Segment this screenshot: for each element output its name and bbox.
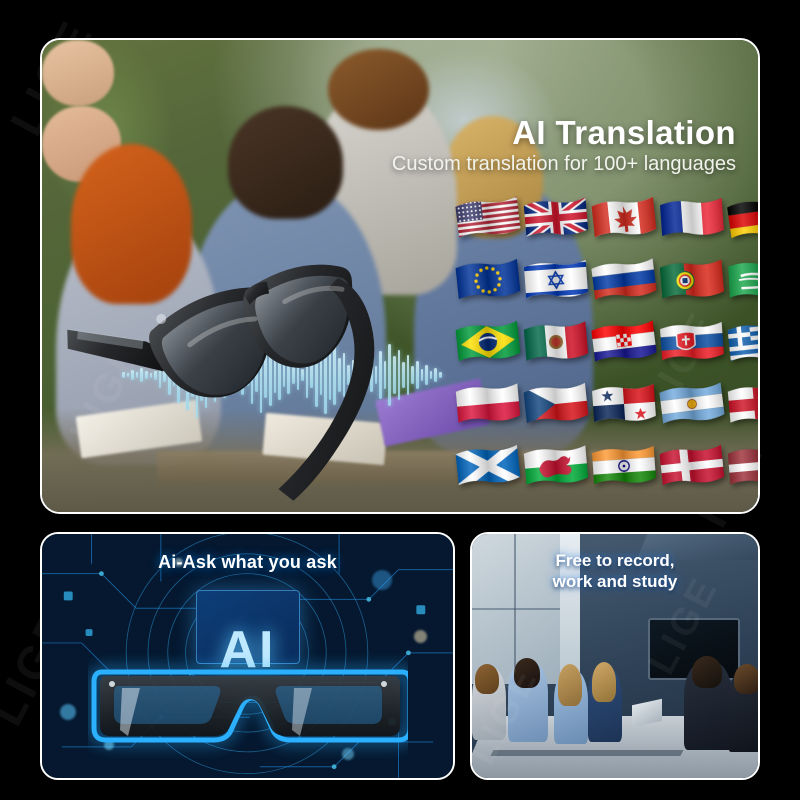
flag-pt xyxy=(659,257,724,302)
flag-gr xyxy=(727,319,760,365)
glowing-smart-glasses-icon xyxy=(88,652,408,762)
attendee-hair xyxy=(592,662,616,702)
flag-lv xyxy=(727,443,760,488)
ai-ask-panel: AI Ai-Ask what you ask xyxy=(40,532,455,780)
flag-pl xyxy=(455,381,520,426)
flag-us xyxy=(455,194,521,241)
ai-panel-caption: Ai-Ask what you ask xyxy=(42,552,453,573)
flag-pa xyxy=(592,382,657,426)
flag-sk xyxy=(660,320,725,364)
office-caption-line-1: Free to record, xyxy=(472,550,758,571)
flag-eng xyxy=(727,381,760,426)
waveform-bar xyxy=(434,368,437,382)
flag-wls xyxy=(523,443,588,488)
person-face xyxy=(42,40,114,106)
waveform-bar xyxy=(439,372,442,378)
hero-subtitle: Custom translation for 100+ languages xyxy=(392,153,736,176)
attendee-hair xyxy=(475,664,499,694)
flag-sa xyxy=(728,258,760,301)
flag-hr xyxy=(591,318,657,365)
office-panel-caption: Free to record, work and study xyxy=(472,550,758,593)
office-caption-line-2: work and study xyxy=(472,571,758,592)
attendee-hair xyxy=(734,664,760,694)
product-feature-collage: LIGE LIGE LIGE LIGE LIGE LIGE xyxy=(0,0,800,800)
flag-dk xyxy=(659,443,725,489)
flag-fr xyxy=(660,196,725,240)
attendee-hair xyxy=(558,664,582,706)
flag-il xyxy=(524,258,589,302)
office-meeting-panel: LIGE LIGE Free to record, work and study xyxy=(470,532,760,780)
person-hair xyxy=(328,49,428,129)
flag-sct xyxy=(455,443,521,489)
hero-title: AI Translation xyxy=(512,114,736,152)
flag-eu xyxy=(455,257,521,303)
flag-ar xyxy=(659,380,725,427)
attendee-hair xyxy=(514,658,540,688)
flag-ca xyxy=(591,195,657,241)
flag-cz xyxy=(523,381,589,427)
language-flag-grid xyxy=(457,198,760,513)
flag-in xyxy=(592,444,657,488)
flag-br xyxy=(455,319,521,365)
flag-mx xyxy=(523,319,588,364)
waveform-bar xyxy=(430,371,433,379)
attendee-hair xyxy=(692,656,722,688)
flag-gb xyxy=(523,195,588,240)
hero-panel: LIGE LIGE xyxy=(40,38,760,514)
flag-de xyxy=(727,194,760,242)
flag-ru xyxy=(591,256,657,303)
